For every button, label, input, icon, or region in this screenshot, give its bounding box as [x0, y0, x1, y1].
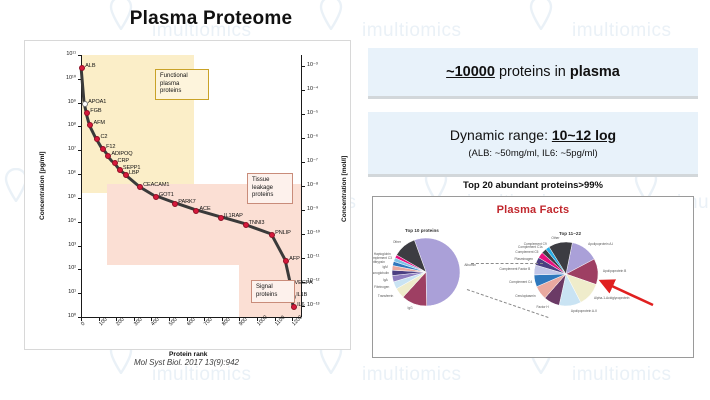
y-tick-mark-right [302, 90, 305, 91]
pie-top10-slice-label: Fibrinogen [374, 285, 389, 289]
leader-line-upper [471, 263, 543, 264]
fact-box-protein-count: ~10000 proteins in plasma [368, 48, 698, 99]
watermark-text: imultiomics [152, 364, 251, 386]
data-point-label-lbp: LBP [129, 170, 139, 176]
pie-top10-slice-label: Haptoglobin [374, 252, 391, 256]
pie-top10-slice-label: Alpha-1-antitrypsin [372, 260, 385, 264]
y-tick-mark-right [302, 210, 305, 211]
annotation-tissue: Tissueleakageproteins [247, 173, 293, 204]
annotation-line: leakage [252, 185, 288, 193]
y-tick-label: 10⁷ [55, 146, 76, 152]
plasma-facts-title: Plasma Facts [373, 204, 693, 216]
y-tick-label: 10² [55, 265, 76, 271]
data-point-label-afm: AFM [93, 120, 105, 126]
data-point-label-fgb: FGB [90, 108, 101, 114]
data-point-label-f12: F12 [106, 144, 115, 150]
pie-top11-slice-label: Ceruloplasmin [515, 294, 535, 298]
y-tick-mark [78, 103, 81, 104]
fact-text-protein-count: ~10000 proteins in plasma [446, 64, 620, 80]
y-tick-label-right: 10⁻⁶ [307, 134, 318, 140]
y-tick-mark [78, 174, 81, 175]
annotation-line: Tissue [252, 177, 288, 185]
data-point-label-il6: IL6 [297, 302, 304, 308]
pointer-arrow-icon [595, 275, 657, 311]
y-tick-mark [78, 150, 81, 151]
data-point-label-park7: PARK7 [178, 199, 195, 205]
y-tick-label: 10⁰ [55, 313, 76, 319]
y-tick-mark [78, 269, 81, 270]
x-axis-title: Protein rank [169, 351, 207, 358]
pie-top10-slice-label: IgA [383, 278, 388, 282]
y-tick-mark-right [302, 258, 305, 259]
x-tick-label: 0 [80, 321, 86, 327]
pie-top11-slice-label: Complement C5 [515, 250, 538, 254]
data-point-label-vegfa: VEGFA [294, 280, 312, 286]
y-tick-label-right: 10⁻⁷ [307, 158, 318, 164]
data-point-label-il1b: IL1B [296, 292, 307, 298]
data-point-label-got1: GOT1 [159, 192, 174, 198]
pie-top11-slice-label: Factor H [536, 305, 548, 309]
fact-text-dynamic-range: Dynamic range: 10~12 log [450, 127, 616, 143]
y-tick-label: 10⁸ [55, 122, 76, 128]
pie-top11-slice-label: Apolipoprotein A-II [571, 309, 597, 313]
y-tick-label: 10³ [55, 242, 76, 248]
pie-top11-slice-label: Complement C4 [509, 280, 532, 284]
y-axis-title-left: Concentration [pg/ml] [39, 152, 46, 221]
y-tick-label-right: 10⁻⁹ [307, 206, 318, 212]
y-tick-mark-right [302, 66, 305, 67]
annotation-signal: Signalproteins [251, 280, 295, 303]
y-tick-mark [78, 293, 81, 294]
watermark-text: imultiomics [362, 20, 461, 42]
y-tick-label-right: 10⁻⁸ [307, 182, 318, 188]
y-tick-label: 10⁵ [55, 194, 76, 200]
pie-top10-slice-label: Alpha-2-Macroglobulin [372, 271, 389, 275]
y-tick-label-right: 10⁻¹⁰ [307, 230, 320, 236]
pie-top11-svg [533, 241, 599, 307]
watermark-text: imultiomics [572, 20, 671, 42]
y-tick-label-right: 10⁻³ [307, 62, 318, 68]
annotation-line: Functional [160, 73, 204, 81]
y-tick-mark [78, 246, 81, 247]
data-point-label-apoa1: APOA1 [88, 99, 106, 105]
y-tick-label: 10⁶ [55, 170, 76, 176]
y-tick-mark [78, 198, 81, 199]
data-point-label-pnlip: PNLIP [275, 230, 291, 236]
pie-top11-slice-label: Apolipoprotein B [603, 269, 626, 273]
pie-top11-slice-label: Complement Factor B [499, 267, 530, 271]
pie-top11-slice-label: Apolipoprotein A-I [588, 242, 613, 246]
plasma-facts-figure: Plasma Facts Top 10 proteins Top 11~22 A… [372, 196, 694, 358]
y-tick-label: 10¹⁰ [55, 75, 76, 81]
y-tick-label-right: 10⁻¹¹ [307, 254, 319, 260]
data-point-label-il1rap: IL1RAP [224, 213, 243, 219]
pie-top10-slice-label: IgM [383, 265, 388, 269]
y-tick-mark-right [302, 114, 305, 115]
data-point-label-tnni3: TNNI3 [249, 220, 265, 226]
annotation-line: proteins [252, 192, 288, 200]
pie-top10-slice-label: Other [393, 240, 401, 244]
plot-area: 10⁰10¹10²10³10⁴10⁵10⁶10⁷10⁸10⁹10¹⁰10¹¹10… [81, 55, 301, 317]
fact-box-dynamic-range: Dynamic range: 10~12 log (ALB: ~50mg/ml,… [368, 112, 698, 177]
y-tick-label: 10¹ [55, 289, 76, 295]
watermark-text: imultiomics [572, 364, 671, 386]
fact-prefix-range: Dynamic range: [450, 127, 552, 143]
pie-chart-top10: AlbuminIgGTransferrinFibrinogenIgAAlpha-… [391, 237, 461, 307]
pie-top10-slice-label: IgG [407, 306, 412, 310]
y-tick-label-right: 10⁻⁵ [307, 110, 318, 116]
pie-top11-slice-label: Other [551, 236, 559, 240]
annotation-line: proteins [256, 292, 290, 300]
y-axis-title-right: Concentration [mol/l] [341, 156, 348, 222]
data-point-label-afp: AFP [289, 256, 300, 262]
y-tick-mark [78, 126, 81, 127]
watermark-text: imultiomics [362, 364, 461, 386]
annotation-line: plasma [160, 81, 204, 89]
annotation-line: proteins [160, 88, 204, 96]
y-tick-mark [78, 55, 81, 56]
y-tick-mark-right [302, 138, 305, 139]
pie-right-caption: Top 11~22 [559, 231, 581, 236]
figure-citation: Mol Syst Biol. 2017 13(9):942 [24, 358, 349, 367]
page-title: Plasma Proteome [86, 8, 336, 30]
pie-section-header: Top 20 abundant proteins>99% [368, 180, 698, 191]
pie-top10-slice-label: Transferrin [378, 294, 393, 298]
data-point-label-ace: ACE [199, 206, 210, 212]
fact-highlight-count: ~10000 [446, 64, 495, 80]
fact-rest-count: proteins in [495, 64, 570, 80]
y-tick-label: 10⁹ [55, 99, 76, 105]
watermark-logo-icon [528, 0, 554, 30]
fact-highlight-range: 10~12 log [552, 127, 616, 143]
data-point-label-ceacam1: CEACAM1 [143, 182, 169, 188]
y-tick-label: 10⁴ [55, 218, 76, 224]
data-point-label-crp: CRP [118, 158, 130, 164]
data-point-label-alb: ALB [85, 63, 95, 69]
data-point-label-c2: C2 [100, 134, 107, 140]
y-tick-label-right: 10⁻⁴ [307, 86, 318, 92]
y-tick-label: 10¹¹ [55, 51, 76, 57]
pie-top10-svg [391, 237, 461, 307]
annotation-functional: Functionalplasmaproteins [155, 69, 209, 100]
y-tick-label-right: 10⁻¹³ [307, 302, 319, 308]
fact-bold-plasma: plasma [570, 64, 620, 80]
plasma-proteome-figure: 10⁰10¹10²10³10⁴10⁵10⁶10⁷10⁸10⁹10¹⁰10¹¹10… [24, 40, 351, 350]
pie-chart-top11-22: Apolipoprotein A-IApolipoprotein BAlpha-… [533, 241, 599, 307]
pie-top11-slice-label: Plasminogen [515, 257, 533, 261]
y-tick-mark-right [302, 162, 305, 163]
y-tick-mark-right [302, 234, 305, 235]
pie-top10-slice-label: Complement C3 [372, 256, 392, 260]
annotation-line: Signal [256, 284, 290, 292]
fact-subtext-range: (ALB: ~50mg/ml, IL6: ~5pg/ml) [468, 148, 597, 159]
data-point-label-adipoq: ADIPOQ [111, 151, 132, 157]
pie-top11-slice-label: Complement C9 [524, 242, 547, 246]
y-tick-mark [78, 222, 81, 223]
y-tick-mark-right [302, 186, 305, 187]
pie-left-caption: Top 10 proteins [405, 228, 439, 233]
